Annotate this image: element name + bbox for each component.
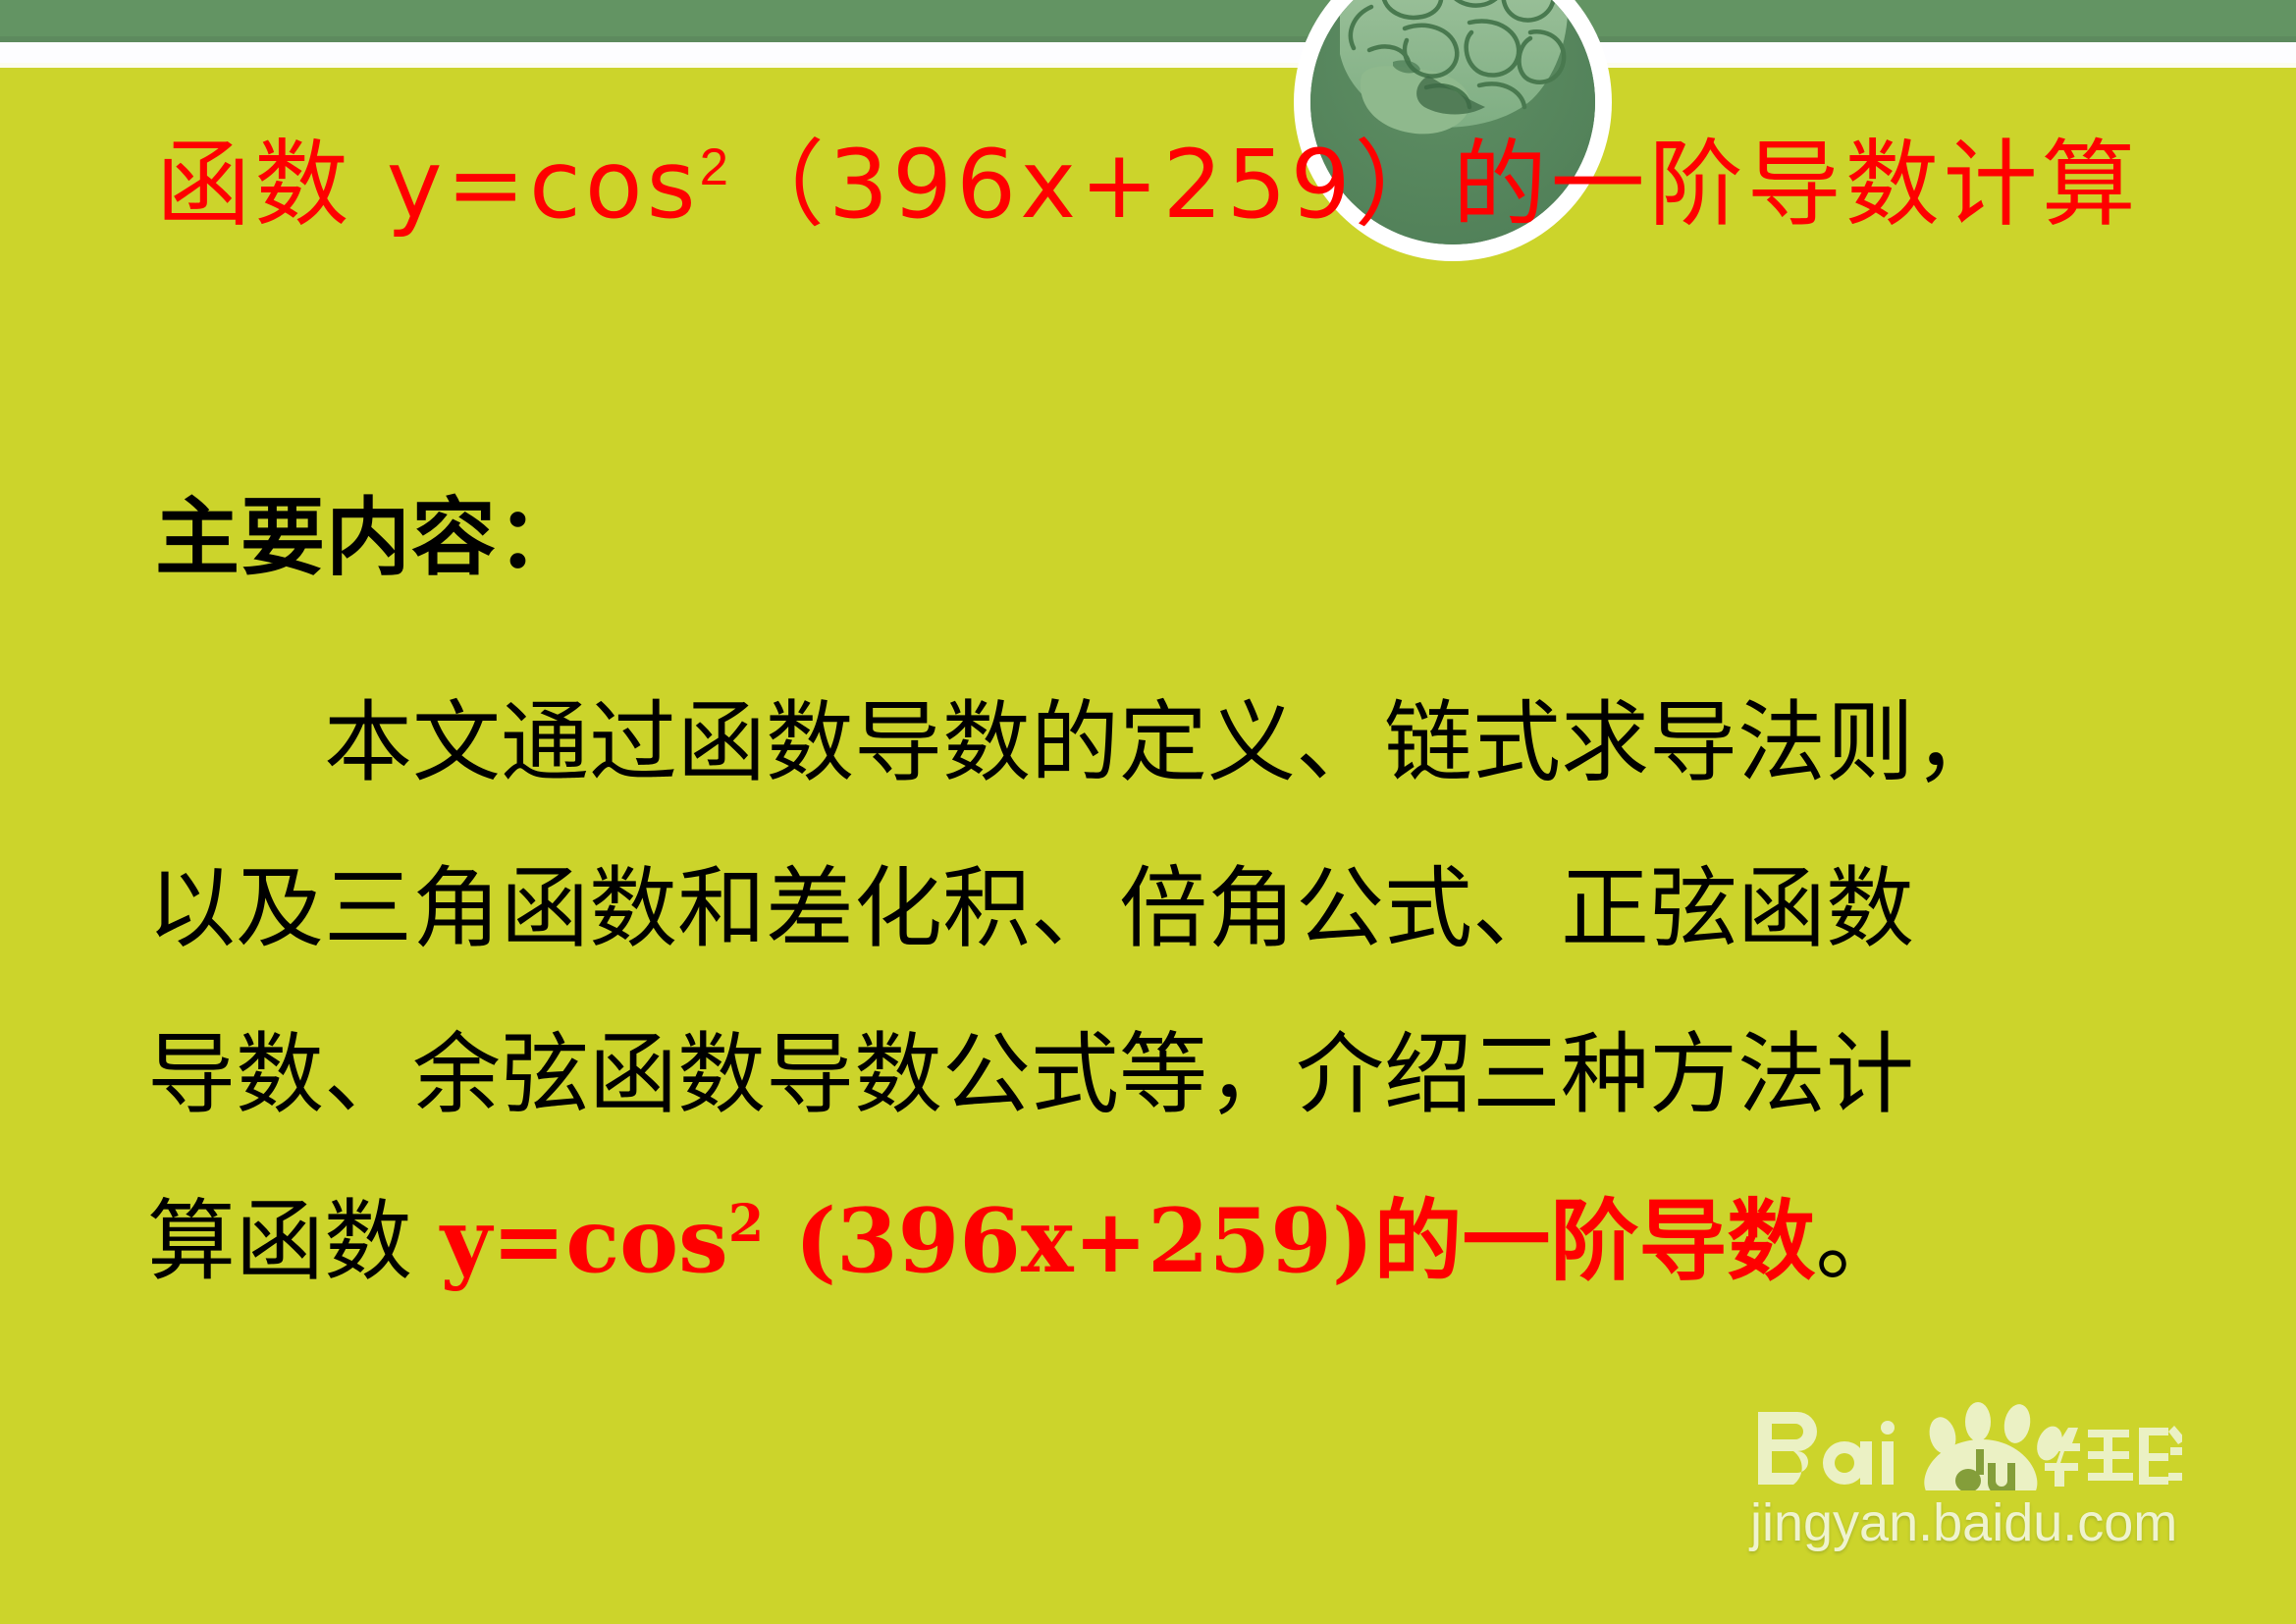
slide-title: 函数 y=cos2（396x+259）的一阶导数计算 bbox=[0, 137, 2296, 233]
body-formula: y=cos2 (396x+259)的一阶导数 bbox=[441, 1189, 1816, 1293]
body-line-3: 导数、余弦函数导数公式等，介绍三种方法计 bbox=[147, 992, 2179, 1158]
watermark-url: jingyan.baidu.com bbox=[1750, 1496, 2182, 1549]
body-line-4-period: 。 bbox=[1815, 1190, 1903, 1293]
title-prefix: 函数 y=cos bbox=[156, 130, 699, 240]
body-formula-tail: 的一阶导数 bbox=[1373, 1189, 1815, 1293]
body-formula-prefix: y=cos bbox=[441, 1189, 728, 1293]
body-paragraph: 本文通过函数导数的定义、链式求导法则， 以及三角函数和差化积、倍角公式、正弦函数… bbox=[147, 660, 2179, 1325]
body-line-4: 算函数 y=cos2 (396x+259)的一阶导数。 bbox=[147, 1159, 2179, 1325]
slide-canvas: 函数 y=cos2（396x+259）的一阶导数计算 主要内容： 本文通过函数导… bbox=[0, 0, 2296, 1624]
body-formula-superscript: 2 bbox=[728, 1194, 764, 1254]
top-banner bbox=[0, 0, 2296, 67]
banner-cream-line bbox=[0, 63, 2296, 68]
baidu-paw-logo-icon bbox=[1750, 1382, 2182, 1490]
title-middle: （396x+259） bbox=[730, 130, 1453, 240]
baidu-logo bbox=[1750, 1382, 2182, 1490]
title-superscript: 2 bbox=[700, 138, 730, 196]
baidu-watermark: jingyan.baidu.com bbox=[1750, 1382, 2182, 1549]
banner-white-band bbox=[0, 42, 2296, 63]
banner-green-band bbox=[0, 0, 2296, 36]
title-suffix: 的一阶导数计算 bbox=[1453, 130, 2140, 240]
body-line-2: 以及三角函数和差化积、倍角公式、正弦函数 bbox=[147, 826, 2179, 992]
body-line-1: 本文通过函数导数的定义、链式求导法则， bbox=[147, 660, 2179, 826]
section-heading: 主要内容： bbox=[155, 496, 582, 580]
body-formula-suffix: (396x+259) bbox=[764, 1189, 1373, 1293]
body-line-1-text: 本文通过函数导数的定义、链式求导法则， bbox=[324, 691, 2002, 794]
body-line-4-prefix: 算函数 bbox=[147, 1190, 441, 1293]
